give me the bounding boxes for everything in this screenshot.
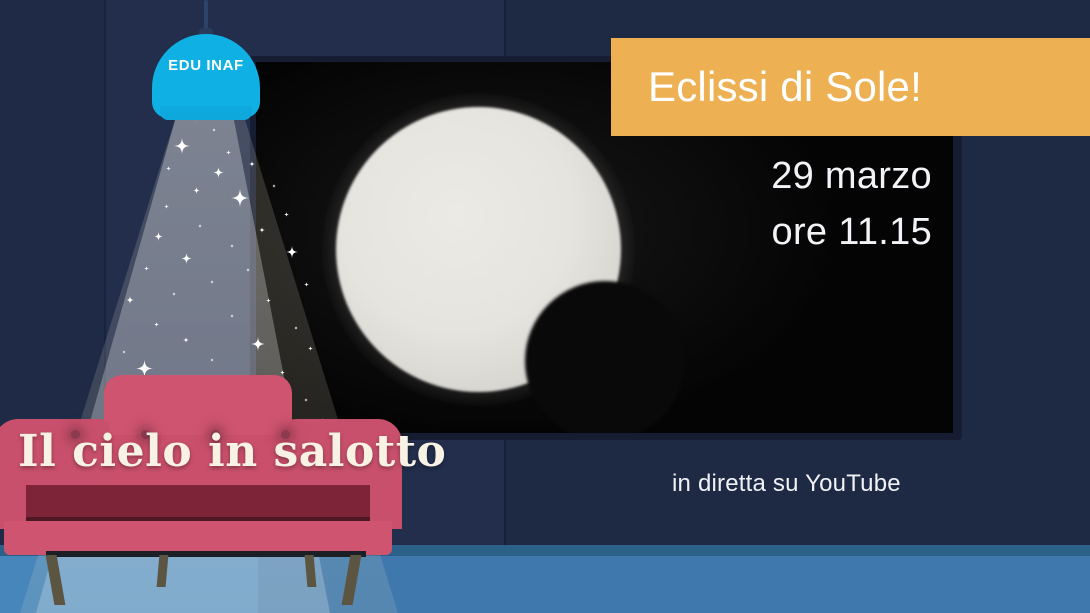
sofa-bottom-rail [46, 551, 366, 557]
event-title: Eclissi di Sole! [648, 63, 922, 111]
brand-logo-label: EDU INAF [152, 57, 260, 74]
sofa-leg [305, 555, 317, 587]
event-title-banner: Eclissi di Sole! [611, 38, 1090, 136]
broadcast-channel-note: in diretta su YouTube [672, 470, 901, 498]
lamp-shade-lip [160, 106, 252, 120]
show-title: Il cielo in salotto [18, 428, 446, 476]
event-date: 29 marzo [512, 148, 932, 204]
poster-canvas: Eclissi di Sole! 29 marzo ore 11.15 in d… [0, 0, 1090, 613]
moon-occultation-disk [525, 281, 685, 433]
sofa-base [4, 521, 392, 555]
event-datetime-block: 29 marzo ore 11.15 [512, 148, 932, 260]
event-time: ore 11.15 [512, 204, 932, 260]
